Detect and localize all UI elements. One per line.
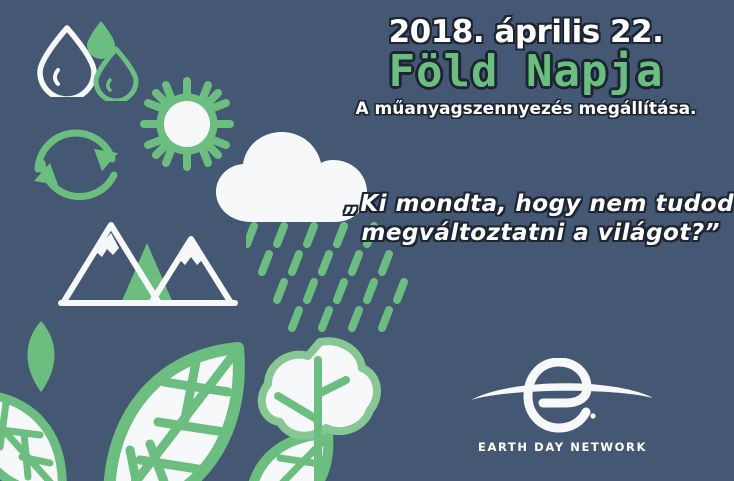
sun-icon — [138, 75, 236, 173]
leaf-small-filled-icon — [20, 318, 62, 396]
earth-day-poster: 2018. április 22. Föld Napja A műanyagsz… — [0, 0, 734, 481]
quote-line-1: „Ki mondta, hogy nem tudod — [345, 190, 720, 219]
page-title: Föld Napja — [336, 50, 716, 94]
recycle-arrows-icon — [20, 113, 132, 215]
logo-wordmark: EARTH DAY NETWORK — [465, 440, 660, 454]
page-subtitle: A műanyagszennyezés megállítása. — [336, 100, 716, 119]
earth-day-network-e-mark — [465, 358, 660, 436]
leaf-outline-left-icon — [0, 385, 74, 481]
water-drop-filled-green-icon — [83, 18, 119, 60]
quote-line-2: megváltoztatni a világot?” — [345, 219, 720, 248]
quote-block: „Ki mondta, hogy nem tudod megváltoztatn… — [345, 190, 720, 249]
earth-day-network-logo: EARTH DAY NETWORK — [465, 358, 660, 454]
tree-icon — [254, 336, 386, 481]
leaf-outline-right-icon — [244, 430, 334, 481]
water-drop-outline-white-icon — [28, 22, 106, 97]
mountains-icon — [55, 215, 245, 310]
headline-block: 2018. április 22. Föld Napja A műanyagsz… — [336, 16, 716, 119]
leaf-outline-large-icon — [78, 340, 253, 481]
water-drop-outline-green-icon — [88, 45, 144, 101]
event-date: 2018. április 22. — [336, 16, 716, 48]
